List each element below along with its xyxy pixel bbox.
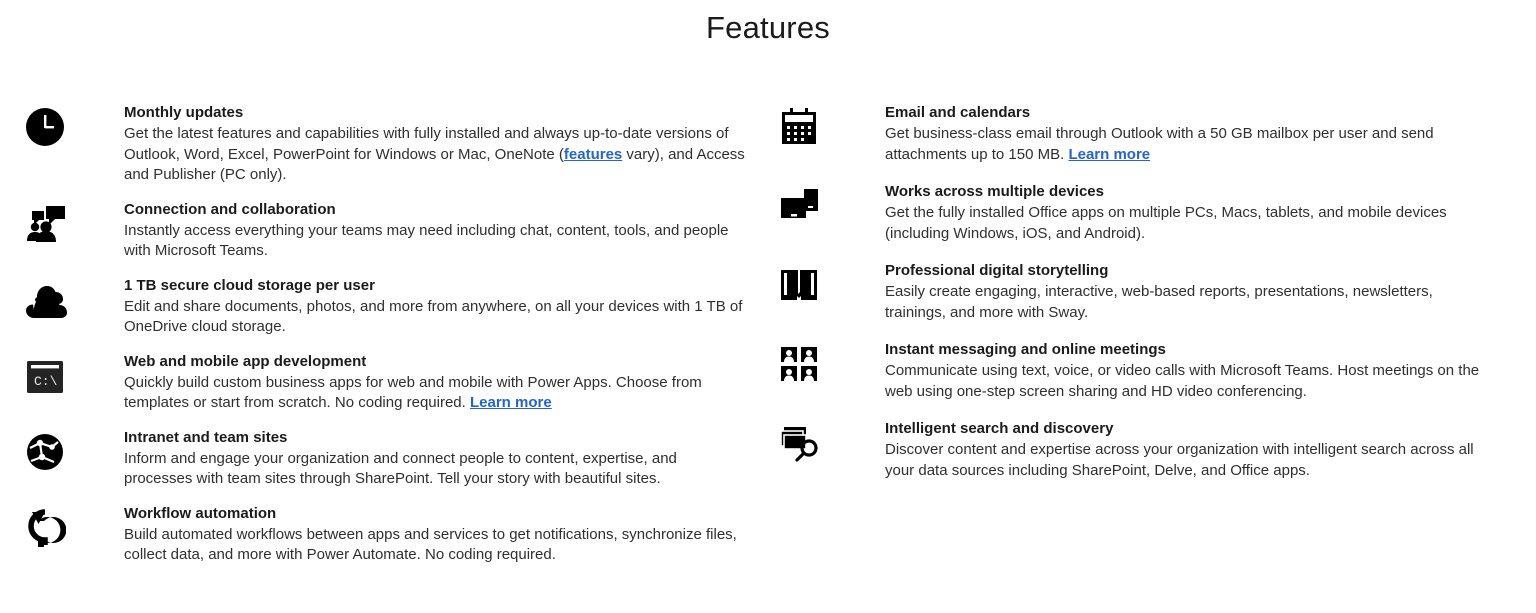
- feature-body: Discover content and expertise across yo…: [885, 440, 1497, 481]
- feature-title: Intelligent search and discovery: [885, 418, 1536, 439]
- feature-text: Connection and collaboration Instantly a…: [124, 199, 770, 262]
- feature-item: Workflow automation Build automated work…: [12, 503, 770, 566]
- feature-body: Inform and engage your organization and …: [124, 449, 749, 490]
- document-search-icon: [770, 418, 885, 464]
- feature-title: Web and mobile app development: [124, 351, 770, 372]
- feature-item: 1 TB secure cloud storage per user Edit …: [12, 275, 770, 338]
- feature-item: C:\ Web and mobile app development Quick…: [12, 351, 770, 414]
- feature-item: Professional digital storytelling Easily…: [770, 260, 1536, 323]
- feature-title: Monthly updates: [124, 102, 770, 123]
- people-grid-icon: [770, 339, 885, 385]
- feature-item: Intelligent search and discovery Discove…: [770, 418, 1536, 481]
- clock-icon: [12, 102, 124, 148]
- command-prompt-icon: C:\: [12, 351, 124, 397]
- feature-body: Communicate using text, voice, or video …: [885, 361, 1497, 402]
- globe-network-icon: [12, 427, 124, 473]
- feature-item: Intranet and team sites Inform and engag…: [12, 427, 770, 490]
- svg-text:C:\: C:\: [34, 374, 58, 389]
- feature-title: Connection and collaboration: [124, 199, 770, 220]
- feature-body: Edit and share documents, photos, and mo…: [124, 297, 749, 338]
- features-columns: Monthly updates Get the latest features …: [0, 102, 1536, 579]
- open-book-icon: [770, 260, 885, 306]
- page-title: Features: [0, 0, 1536, 48]
- feature-body: Get the fully installed Office apps on m…: [885, 203, 1497, 244]
- feature-text: 1 TB secure cloud storage per user Edit …: [124, 275, 770, 338]
- feature-text: Workflow automation Build automated work…: [124, 503, 770, 566]
- features-link[interactable]: features: [564, 146, 622, 163]
- feature-title: 1 TB secure cloud storage per user: [124, 275, 770, 296]
- feature-item: Works across multiple devices Get the fu…: [770, 181, 1536, 244]
- feature-text: Professional digital storytelling Easily…: [885, 260, 1536, 323]
- feature-text: Monthly updates Get the latest features …: [124, 102, 770, 186]
- feature-item: Instant messaging and online meetings Co…: [770, 339, 1536, 402]
- learn-more-link[interactable]: Learn more: [1068, 146, 1150, 163]
- feature-item: Connection and collaboration Instantly a…: [12, 199, 770, 262]
- feature-body: Instantly access everything your teams m…: [124, 221, 749, 262]
- feature-body: Quickly build custom business apps for w…: [124, 373, 749, 414]
- people-chat-icon: [12, 199, 124, 245]
- feature-title: Email and calendars: [885, 102, 1536, 123]
- feature-title: Instant messaging and online meetings: [885, 339, 1536, 360]
- feature-text: Intranet and team sites Inform and engag…: [124, 427, 770, 490]
- feature-title: Professional digital storytelling: [885, 260, 1536, 281]
- feature-text: Intelligent search and discovery Discove…: [885, 418, 1536, 481]
- feature-title: Intranet and team sites: [124, 427, 770, 448]
- feature-item: Monthly updates Get the latest features …: [12, 102, 770, 186]
- learn-more-link[interactable]: Learn more: [470, 394, 552, 411]
- feature-text: Instant messaging and online meetings Co…: [885, 339, 1536, 402]
- feature-body: Get business-class email through Outlook…: [885, 124, 1497, 165]
- features-page: Features Monthly updates Get the latest …: [0, 0, 1536, 613]
- feature-body: Easily create engaging, interactive, web…: [885, 282, 1497, 323]
- feature-title: Workflow automation: [124, 503, 770, 524]
- feature-title: Works across multiple devices: [885, 181, 1536, 202]
- feature-body-pre: Get business-class email through Outlook…: [885, 125, 1434, 163]
- feature-body: Build automated workflows between apps a…: [124, 525, 749, 566]
- feature-item: Email and calendars Get business-class e…: [770, 102, 1536, 165]
- feature-text: Works across multiple devices Get the fu…: [885, 181, 1536, 244]
- refresh-arrow-icon: [12, 503, 124, 553]
- cloud-icon: [12, 275, 124, 321]
- features-column-right: Email and calendars Get business-class e…: [770, 102, 1536, 579]
- feature-body: Get the latest features and capabilities…: [124, 124, 749, 186]
- feature-body-pre: Quickly build custom business apps for w…: [124, 374, 702, 412]
- feature-text: Email and calendars Get business-class e…: [885, 102, 1536, 165]
- features-column-left: Monthly updates Get the latest features …: [0, 102, 770, 579]
- calendar-icon: [770, 102, 885, 148]
- multiple-devices-icon: [770, 181, 885, 227]
- feature-text: Web and mobile app development Quickly b…: [124, 351, 770, 414]
